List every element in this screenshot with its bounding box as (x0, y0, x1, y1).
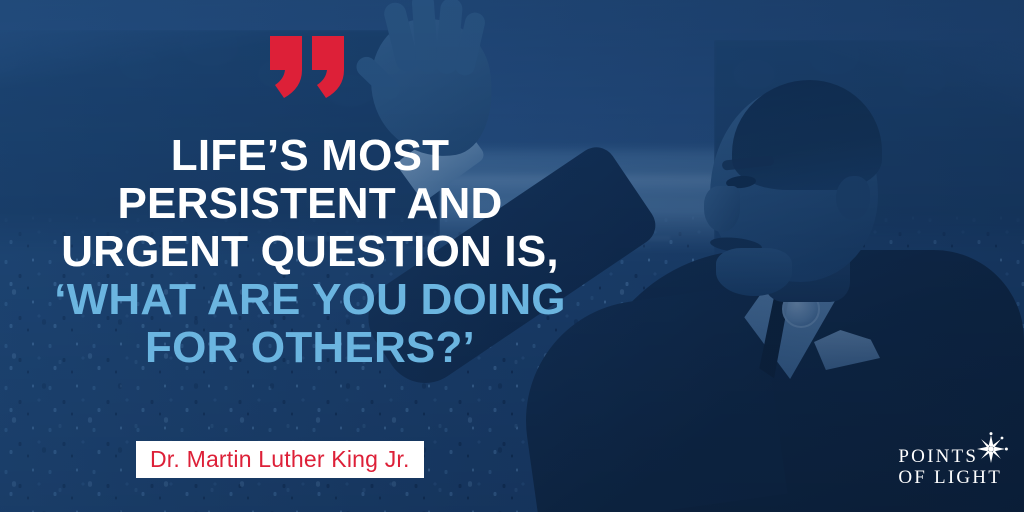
quote-line-1: LIFE’S MOST (0, 132, 620, 180)
closing-double-quote-icon (270, 36, 350, 98)
attribution-name: Dr. Martin Luther King Jr. (150, 446, 410, 473)
quote-line-2: PERSISTENT AND (0, 180, 620, 228)
quote-poster: LIFE’S MOST PERSISTENT AND URGENT QUESTI… (0, 0, 1024, 512)
attribution-bar: Dr. Martin Luther King Jr. (136, 441, 424, 478)
quote-line-5: FOR OTHERS?’ (0, 324, 620, 372)
starburst-icon (974, 432, 1008, 466)
poster-content: LIFE’S MOST PERSISTENT AND URGENT QUESTI… (0, 0, 1024, 512)
quote-line-4: ‘WHAT ARE YOU DOING (0, 276, 620, 324)
quote-line-3: URGENT QUESTION IS, (0, 228, 620, 276)
quote-text: LIFE’S MOST PERSISTENT AND URGENT QUESTI… (0, 132, 620, 372)
points-of-light-logo: POINTS OF LIGHT (898, 446, 1002, 488)
logo-line-2: OF LIGHT (898, 467, 1002, 488)
